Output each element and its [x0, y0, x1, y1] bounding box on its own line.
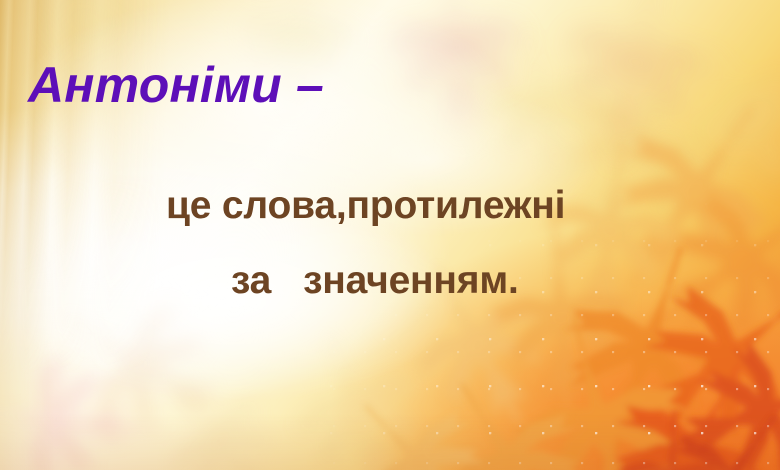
slide-text-layer: Антоніми – це слова,протилежні за значен… [0, 0, 780, 470]
slide-body-line-2: за значенням. [231, 261, 519, 300]
slide-canvas: Антоніми – це слова,протилежні за значен… [0, 0, 780, 470]
slide-title: Антоніми – [28, 60, 324, 110]
slide-body-line-1: це слова,протилежні [166, 186, 565, 225]
